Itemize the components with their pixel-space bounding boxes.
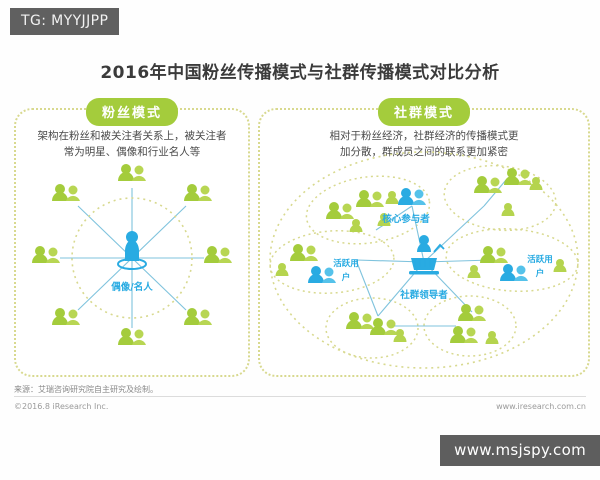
copyright-note: ©2016.8 iResearch Inc. — [14, 402, 108, 411]
icon-fan-group-bottom-left — [52, 308, 80, 325]
icon-core-participant — [398, 188, 426, 205]
cluster-top-right — [474, 168, 543, 216]
source-note: 来源：艾瑞咨询研究院自主研究及绘制。 — [14, 384, 158, 395]
icon-fan-group-top-right — [184, 184, 212, 201]
label-community-leader: 社群领导者 — [399, 289, 448, 301]
community-model-diagram: 核心参与者 活跃用 户 活跃用 — [260, 110, 588, 375]
label-active-user-right-line2: 户 — [535, 268, 545, 279]
icon-fan-group-top-left — [52, 184, 80, 201]
icon-fan-group-left — [32, 246, 60, 263]
label-idol-celebrity: 偶像/名人 — [111, 281, 153, 293]
infographic-canvas: TG: MYYJJPP 2016年中国粉丝传播模式与社群传播模式对比分析 粉丝模… — [0, 0, 600, 480]
label-core-participant: 核心参与者 — [382, 213, 430, 225]
icon-fan-group-top — [118, 164, 146, 181]
cluster-left-active — [276, 244, 337, 283]
icon-community-leader — [409, 235, 444, 275]
cluster-bottom-left — [346, 312, 407, 342]
website-note: www.iresearch.com.cn — [496, 402, 586, 411]
label-active-user-right-line1: 活跃用 — [527, 254, 553, 265]
fan-model-diagram: 偶像/名人 — [16, 110, 248, 375]
site-watermark: www.msjspy.com — [440, 435, 600, 466]
footer-divider — [14, 396, 586, 397]
icon-fan-group-bottom-right — [184, 308, 212, 325]
panel-community-model: 社群模式 相对于粉丝经济，社群经济的传播模式更 加分散，群成员之间的联系更加紧密 — [258, 108, 590, 377]
icon-fan-group-bottom — [118, 328, 146, 345]
tg-watermark-tag: TG: MYYJJPP — [10, 8, 119, 35]
cluster-top-left — [326, 190, 399, 232]
page-title: 2016年中国粉丝传播模式与社群传播模式对比分析 — [0, 58, 600, 83]
icon-fan-group-right — [204, 246, 232, 263]
label-active-user-left-line1: 活跃用 — [333, 258, 359, 269]
label-active-user-left-line2: 户 — [341, 272, 351, 283]
cluster-bottom-right — [450, 304, 499, 344]
panel-fan-model: 粉丝模式 架构在粉丝和被关注者关系上，被关注者 常为明星、偶像和行业名人等 — [14, 108, 250, 377]
